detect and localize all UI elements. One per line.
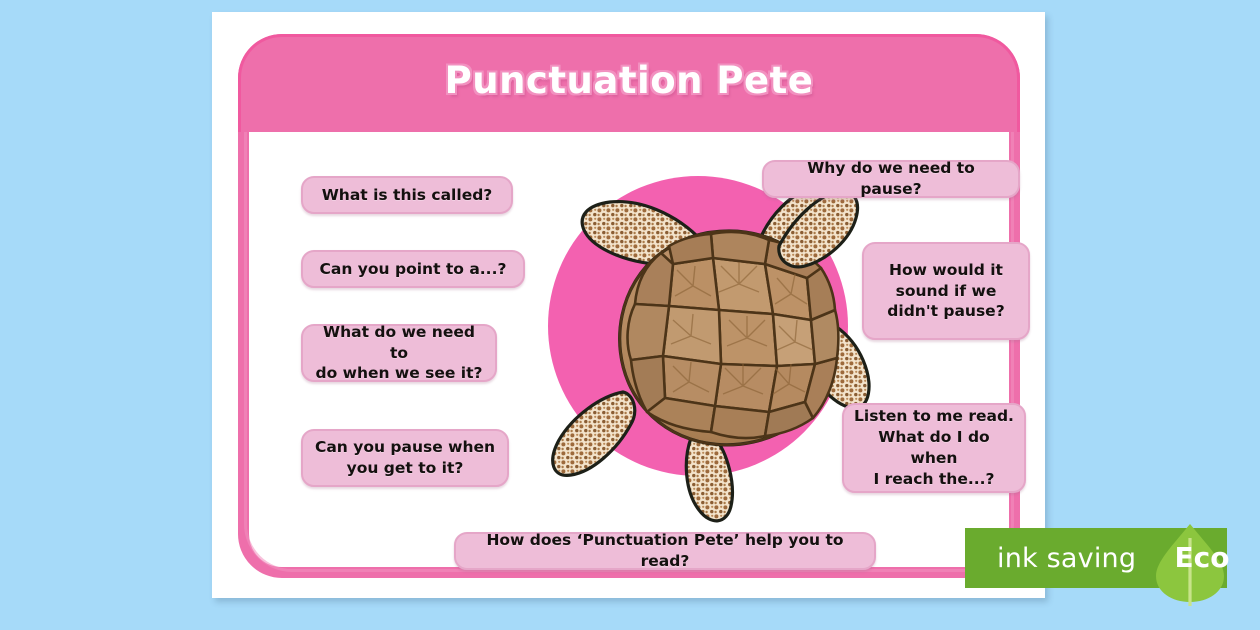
question-bubble-6[interactable]: How would it sound if we didn't pause? — [862, 242, 1030, 340]
poster-header-band: Punctuation Pete — [238, 34, 1020, 132]
ink-saving-eco-badge: ink saving Eco — [965, 528, 1260, 588]
question-bubble-2[interactable]: Can you point to a...? — [301, 250, 525, 288]
page-title: Punctuation Pete — [241, 59, 1017, 102]
poster-content-area: What is this called? Can you point to a.… — [249, 132, 1009, 567]
sea-turtle-illustration — [507, 154, 897, 526]
question-bubble-5[interactable]: Why do we need to pause? — [762, 160, 1020, 198]
question-bubble-3[interactable]: What do we need to do when we see it? — [301, 324, 497, 382]
eco-bar-label: ink saving — [997, 543, 1136, 574]
question-bubble-8[interactable]: How does ‘Punctuation Pete’ help you to … — [454, 532, 876, 570]
eco-leaf-label: Eco — [1162, 541, 1242, 574]
question-bubble-7[interactable]: Listen to me read. What do I do when I r… — [842, 403, 1026, 493]
poster-page: Punctuation Pete — [212, 12, 1045, 598]
screenshot-root: Punctuation Pete — [0, 0, 1260, 630]
question-bubble-4[interactable]: Can you pause when you get to it? — [301, 429, 509, 487]
question-bubble-1[interactable]: What is this called? — [301, 176, 513, 214]
